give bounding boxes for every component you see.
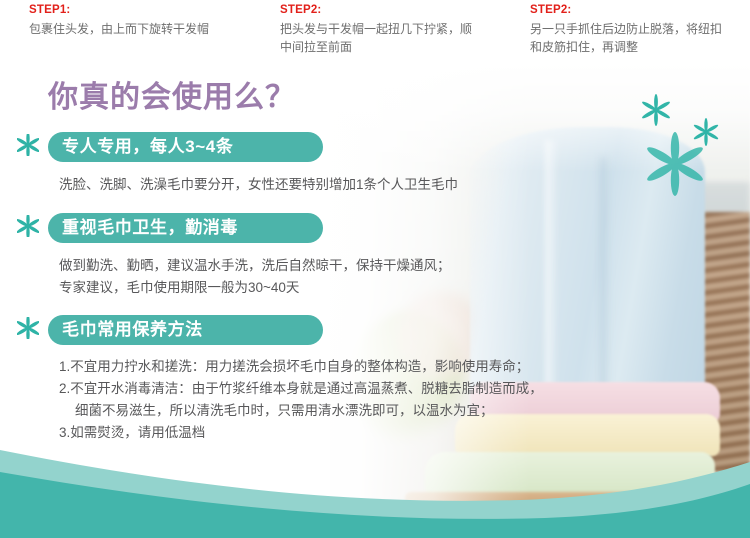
step-2-text: 把头发与干发帽一起扭几下拧紧，顺中间拉至前面 — [280, 20, 480, 56]
step-column-1: STEP1: 包裹住头发，由上而下旋转干发帽 — [0, 0, 249, 62]
asterisk-bullet-icon — [17, 134, 39, 156]
step-instructions-row: STEP1: 包裹住头发，由上而下旋转干发帽 STEP2: 把头发与干发帽一起扭… — [0, 0, 750, 62]
asterisk-bullet-icon — [17, 215, 39, 237]
step-column-2: STEP2: 把头发与干发帽一起扭几下拧紧，顺中间拉至前面 — [249, 0, 500, 62]
step-2-label: STEP2: — [280, 3, 500, 18]
section-1-line-1: 洗脸、洗脚、洗澡毛巾要分开，女性还要特别增加1条个人卫生毛巾 — [48, 174, 750, 196]
step-1-label: STEP1: — [29, 3, 249, 18]
section-2-line-2: 专家建议，毛巾使用期限一般为30~40天 — [48, 277, 750, 299]
step-column-3: STEP2: 另一只手抓住后边防止脱落，将纽扣和皮筋扣住，再调整 — [500, 0, 750, 62]
section-2-line-1: 做到勤洗、勤晒，建议温水手洗，洗后自然晾干，保持干燥通风； — [48, 255, 750, 277]
maintenance-list: 1.不宜用力拧水和搓洗：用力搓洗会损坏毛巾自身的整体构造，影响使用寿命； 2.不… — [48, 356, 750, 444]
main-content: 你真的会使用么？ 专人专用，每人3~4条 洗脸、洗脚、洗澡毛巾要分开，女性还要特… — [0, 62, 750, 444]
page-title: 你真的会使用么？ — [0, 62, 750, 118]
section-3-badge: 毛巾常用保养方法 — [48, 315, 323, 345]
list-item: 细菌不易滋生，所以清洗毛巾时，只需用清水漂洗即可，以温水为宜； — [59, 400, 750, 422]
bottom-wave-decoration — [0, 428, 750, 538]
step-1-text: 包裹住头发，由上而下旋转干发帽 — [29, 20, 229, 38]
section-1-badge: 专人专用，每人3~4条 — [48, 132, 323, 162]
asterisk-bullet-icon — [17, 317, 39, 339]
list-item: 2.不宜开水消毒清洁：由于竹浆纤维本身就是通过高温蒸煮、脱糖去脂制造而成， — [59, 378, 750, 400]
section-hygiene: 重视毛巾卫生，勤消毒 做到勤洗、勤晒，建议温水手洗，洗后自然晾干，保持干燥通风；… — [0, 213, 750, 299]
step-3-text: 另一只手抓住后边防止脱落，将纽扣和皮筋扣住，再调整 — [530, 20, 730, 56]
infographic-page: STEP1: 包裹住头发，由上而下旋转干发帽 STEP2: 把头发与干发帽一起扭… — [0, 0, 750, 538]
section-maintenance: 毛巾常用保养方法 1.不宜用力拧水和搓洗：用力搓洗会损坏毛巾自身的整体构造，影响… — [0, 315, 750, 444]
step-3-label: STEP2: — [530, 3, 750, 18]
section-2-badge: 重视毛巾卫生，勤消毒 — [48, 213, 323, 243]
list-item: 1.不宜用力拧水和搓洗：用力搓洗会损坏毛巾自身的整体构造，影响使用寿命； — [59, 356, 750, 378]
list-item: 3.如需熨烫，请用低温档 — [59, 422, 750, 444]
section-personal-use: 专人专用，每人3~4条 洗脸、洗脚、洗澡毛巾要分开，女性还要特别增加1条个人卫生… — [0, 132, 750, 196]
